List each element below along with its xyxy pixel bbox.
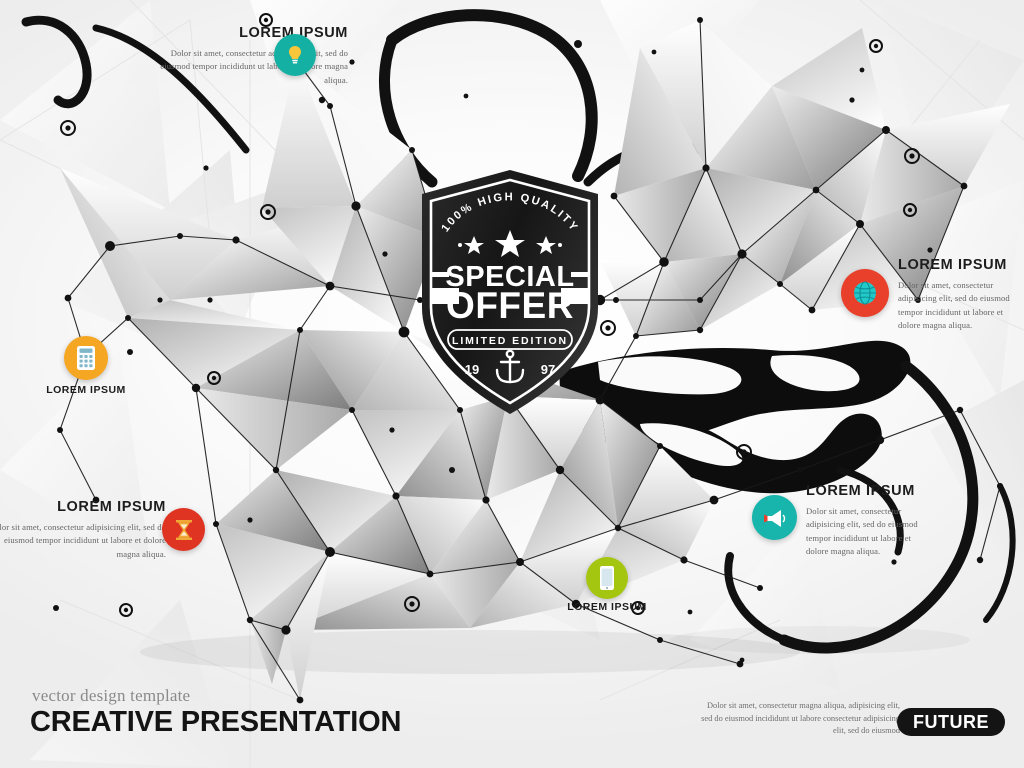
footer-body-text: Dolor sit amet, consectetur magna aliqua… [700,700,900,738]
footer-subtitle: vector design template [32,686,190,706]
future-badge[interactable]: FUTURE [897,708,1005,736]
hourglass-icon[interactable] [162,508,205,551]
emblem-year-left: 19 [465,362,479,377]
icon-label-mobile: LOREM IPSUM [547,601,667,613]
megaphone-glyph [761,504,789,532]
mobile-phone-icon[interactable] [586,557,628,599]
mobile-phone-glyph [599,565,615,591]
info-block-right-lower: LOREM IPSUM Dolor sit amet, consectetur … [806,484,926,558]
poster-canvas: 100% HIGH QUALITY SPECIAL OFFER LIMITED … [0,0,1024,768]
hourglass-glyph [173,518,195,542]
info-body: Dolor sit amet, consectetur adipisicing … [806,505,926,558]
info-body: Dolor sit amet, consectetur adipisicing … [158,47,348,87]
info-body: Dolor sit amet, consectetur adipisicing … [0,521,166,561]
info-heading: LOREM IPSUM [806,484,926,500]
emblem-year-right: 97 [541,362,555,377]
special-offer-emblem: 100% HIGH QUALITY SPECIAL OFFER LIMITED … [412,168,608,418]
svg-text:LIMITED EDITION: LIMITED EDITION [452,335,568,347]
globe-glyph [850,278,880,308]
info-block-left-lower: LOREM IPSUM Dolor sit amet, consectetur … [0,500,166,561]
info-heading: LOREM IPSUM [158,26,348,42]
globe-icon[interactable] [841,269,889,317]
emblem-title-row2: OFFER [431,285,589,326]
megaphone-icon[interactable] [752,495,797,540]
info-heading: LOREM IPSUM [898,258,1020,274]
page-title: CREATIVE PRESENTATION [30,706,401,739]
lightbulb-icon[interactable] [274,34,316,76]
calculator-glyph [76,345,96,371]
info-body: Dolor sit amet, consectetur adipisicing … [898,279,1020,332]
icon-label-calculator: LOREM IPSUM [26,384,146,396]
lightbulb-glyph [283,43,307,67]
info-block-right-upper: LOREM IPSUM Dolor sit amet, consectetur … [898,258,1020,332]
info-block-top-left: LOREM IPSUM Dolor sit amet, consectetur … [158,26,348,87]
calculator-icon[interactable] [64,336,108,380]
info-heading: LOREM IPSUM [0,500,166,516]
svg-text:OFFER: OFFER [446,285,574,326]
